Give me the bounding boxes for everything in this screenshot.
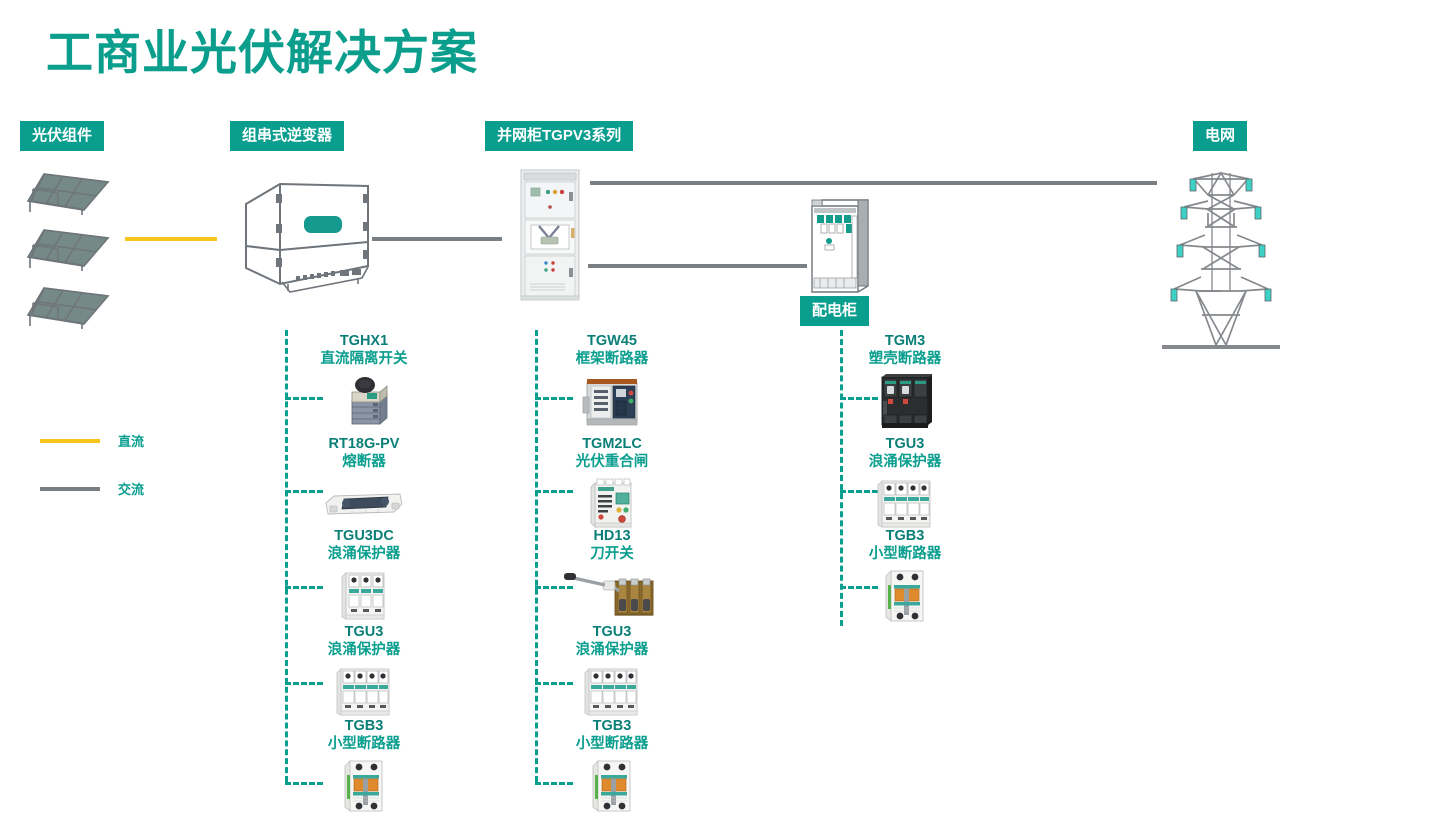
product-code: TGW45 (507, 332, 717, 350)
legend-item-dc: 直流 (40, 431, 144, 450)
product-item[interactable]: TGM2LC 光伏重合闸 (507, 435, 717, 535)
solution-diagram-canvas: 工商业光伏解决方案 光伏组件 组串式逆变器 并网柜TGPV3系列 电网 配电柜 (0, 0, 1436, 829)
product-code: TGU3DC (259, 527, 469, 545)
ac-line-icon (40, 487, 100, 491)
product-name: 框架断路器 (507, 350, 717, 368)
transmission-tower-icon (1158, 165, 1284, 355)
ac-connection-line-grid (590, 181, 1157, 185)
surge-protector-4p-icon (507, 661, 717, 723)
product-name: 浪涌保护器 (800, 453, 1010, 471)
dc-isolator-switch-icon (259, 370, 469, 432)
product-code: HD13 (507, 527, 717, 545)
knife-switch-icon (507, 565, 717, 627)
product-code: TGHX1 (259, 332, 469, 350)
dc-line-icon (40, 439, 100, 443)
product-code: TGB3 (800, 527, 1010, 545)
surge-protector-4p-icon (259, 661, 469, 723)
distribution-cabinet-icon (808, 196, 872, 294)
product-item[interactable]: TGU3 浪涌保护器 (259, 623, 469, 723)
product-name: 小型断路器 (800, 545, 1010, 563)
badge-grid-cabinet[interactable]: 并网柜TGPV3系列 (485, 121, 633, 151)
legend-label-dc: 直流 (118, 431, 144, 450)
dc-connection-line (125, 237, 217, 241)
fuse-holder-icon (259, 473, 469, 535)
miniature-circuit-breaker-icon (259, 755, 469, 817)
product-code: TGM2LC (507, 435, 717, 453)
product-item[interactable]: TGB3 小型断路器 (507, 717, 717, 817)
product-code: TGB3 (259, 717, 469, 735)
product-name: 刀开关 (507, 545, 717, 563)
grid-cabinet-icon (519, 168, 581, 301)
product-name: 熔断器 (259, 453, 469, 471)
product-code: TGU3 (800, 435, 1010, 453)
product-item[interactable]: TGM3 塑壳断路器 (800, 332, 1010, 432)
product-name: 小型断路器 (259, 735, 469, 753)
product-item[interactable]: TGHX1 直流隔离开关 (259, 332, 469, 432)
badge-power-grid[interactable]: 电网 (1193, 121, 1247, 151)
badge-string-inverter[interactable]: 组串式逆变器 (230, 121, 344, 151)
product-code: TGM3 (800, 332, 1010, 350)
product-item[interactable]: TGW45 框架断路器 (507, 332, 717, 432)
badge-pv-modules[interactable]: 光伏组件 (20, 121, 104, 151)
page-title: 工商业光伏解决方案 (46, 22, 478, 84)
miniature-circuit-breaker-icon (800, 565, 1010, 627)
string-inverter-icon (232, 172, 372, 300)
moulded-case-breaker-icon (800, 370, 1010, 432)
ac-connection-line (372, 237, 502, 241)
product-name: 光伏重合闸 (507, 453, 717, 471)
badge-distribution-cabinet[interactable]: 配电柜 (800, 296, 869, 326)
legend-label-ac: 交流 (118, 479, 144, 498)
product-item[interactable]: RT18G-PV 熔断器 (259, 435, 469, 535)
product-item[interactable]: TGU3 浪涌保护器 (507, 623, 717, 723)
miniature-circuit-breaker-icon (507, 755, 717, 817)
product-item[interactable]: TGU3DC 浪涌保护器 (259, 527, 469, 627)
product-name: 直流隔离开关 (259, 350, 469, 368)
product-code: RT18G-PV (259, 435, 469, 453)
solar-panel-icon (22, 168, 114, 216)
solar-panel-icon (22, 224, 114, 272)
product-item[interactable]: TGB3 小型断路器 (259, 717, 469, 817)
product-code: TGU3 (507, 623, 717, 641)
product-item[interactable]: TGB3 小型断路器 (800, 527, 1010, 627)
product-item[interactable]: HD13 刀开关 (507, 527, 717, 627)
product-name: 塑壳断路器 (800, 350, 1010, 368)
product-name: 浪涌保护器 (259, 641, 469, 659)
product-name: 小型断路器 (507, 735, 717, 753)
pv-recloser-icon (507, 473, 717, 535)
solar-panel-icon (22, 282, 114, 330)
legend-item-ac: 交流 (40, 479, 144, 498)
product-name: 浪涌保护器 (507, 641, 717, 659)
product-code: TGU3 (259, 623, 469, 641)
surge-protector-3p-icon (259, 565, 469, 627)
air-circuit-breaker-icon (507, 370, 717, 432)
product-name: 浪涌保护器 (259, 545, 469, 563)
ac-connection-line-distribution (588, 264, 807, 268)
surge-protector-4p-icon (800, 473, 1010, 535)
product-item[interactable]: TGU3 浪涌保护器 (800, 435, 1010, 535)
product-code: TGB3 (507, 717, 717, 735)
